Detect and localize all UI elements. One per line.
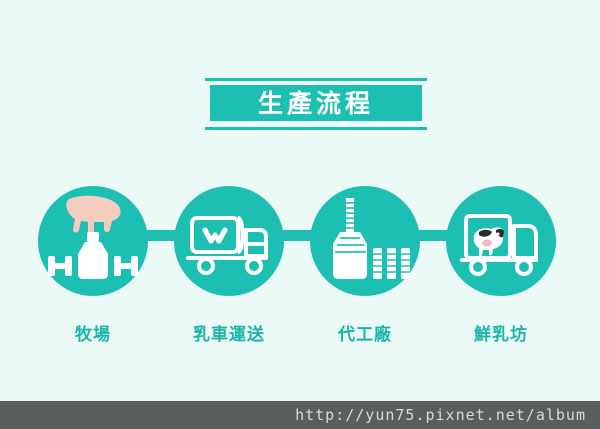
- flow-step-3[interactable]: [310, 186, 420, 296]
- step-labels: 牧場 乳車運送 代工廠 鮮乳坊: [0, 322, 600, 352]
- letter-m-logo-shape: [205, 230, 225, 241]
- delivery-truck-cow-icon: [446, 186, 556, 296]
- truck-cab-shape: [246, 230, 266, 256]
- flow-step-2-label: 乳車運送: [154, 322, 304, 348]
- watermark-bar: http://yun75.pixnet.net/album: [0, 401, 600, 429]
- milk-tanker-truck-icon: [174, 186, 284, 296]
- title-rule-bottom: [205, 127, 427, 130]
- flow-step-4-label: 鮮乳坊: [426, 322, 576, 348]
- milk-bottle-shape: [78, 232, 108, 279]
- cow-udder-shape: [66, 196, 120, 234]
- flow-step-4[interactable]: [446, 186, 556, 296]
- process-flow: [0, 186, 600, 296]
- smokestack-shape: [346, 198, 354, 232]
- title-banner: 生產流程: [205, 78, 427, 130]
- fence-post-right-shape: [114, 256, 138, 276]
- processing-factory-icon: [310, 186, 420, 296]
- watermark-url: http://yun75.pixnet.net/album: [295, 406, 600, 424]
- infographic-canvas: 生產流程: [0, 0, 600, 429]
- flow-step-2[interactable]: [174, 186, 284, 296]
- truck-wheels-shape: [471, 260, 531, 274]
- flow-step-1-label: 牧場: [18, 322, 168, 348]
- storage-tanks-shape: [373, 248, 410, 279]
- title-band: 生產流程: [210, 85, 422, 121]
- factory-building-shape: [333, 232, 367, 279]
- page-title: 生產流程: [258, 91, 374, 116]
- truck-wheels-shape: [199, 259, 261, 273]
- flow-step-3-label: 代工廠: [290, 322, 440, 348]
- title-rule-top: [205, 78, 427, 81]
- flow-step-1[interactable]: [38, 186, 148, 296]
- cow-graphic-shape: [474, 227, 504, 256]
- fence-post-left-shape: [48, 256, 72, 276]
- dairy-farm-icon: [38, 186, 148, 296]
